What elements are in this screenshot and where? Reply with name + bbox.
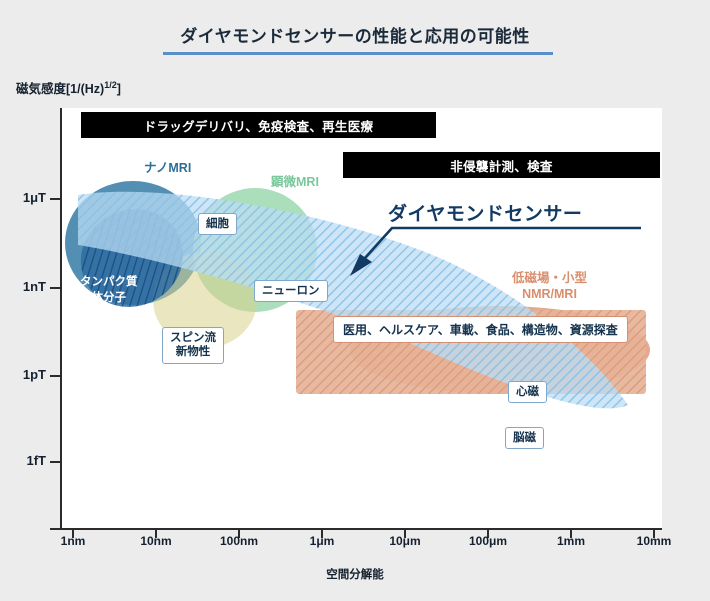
y-axis-label-exponent: 1/2 [104, 80, 117, 90]
banner-drug-delivery: ドラッグデリバリ、免疫検査、再生医療 [81, 112, 436, 138]
page-title: ダイヤモンドセンサーの性能と応用の可能性 [0, 22, 710, 47]
y-tick-2 [50, 375, 62, 377]
chip-applications: 医用、ヘルスケア、車載、食品、構造物、資源探査 [333, 316, 628, 343]
y-axis-label-tail: ] [117, 82, 121, 96]
x-tick-label-6: 1mm [557, 534, 585, 548]
chip-spin-current: スピン流 新物性 [162, 327, 224, 364]
y-axis-line [60, 108, 62, 530]
y-tick-1 [50, 287, 62, 289]
label-nano-mri: ナノMRI [144, 160, 191, 176]
y-tick-3 [50, 461, 62, 463]
y-axis-label: 磁気感度[1/(Hz)1/2] [16, 78, 121, 97]
x-tick-label-2: 100nm [220, 534, 258, 548]
diagram-root: ダイヤモンドセンサーの性能と応用の可能性 磁気感度[1/(Hz)1/2] [0, 0, 710, 601]
title-underline [163, 52, 553, 55]
chip-neuron: ニューロン [254, 280, 328, 302]
label-low-field-nmr: 低磁場・小型 NMR/MRI [512, 270, 587, 303]
y-tick-0 [50, 198, 62, 200]
y-tick-label-1: 1nT [0, 279, 46, 294]
y-tick-label-2: 1pT [0, 367, 46, 382]
x-tick-label-7: 10mm [637, 534, 672, 548]
chip-brain-magnetism: 脳磁 [505, 427, 544, 449]
y-axis-label-main: 磁気感度[1/(Hz) [16, 82, 104, 96]
label-micro-mri: 顕微MRI [271, 174, 319, 190]
x-tick-label-1: 10nm [140, 534, 171, 548]
x-tick-label-3: 1μm [310, 534, 335, 548]
banner-noninvasive: 非侵襲計測、検査 [343, 152, 660, 178]
chip-heart-magnetism: 心磁 [508, 381, 547, 403]
label-diamond-sensor: ダイヤモンドセンサー [388, 199, 582, 226]
chip-cell: 細胞 [198, 213, 237, 235]
x-tick-label-4: 10μm [389, 534, 420, 548]
x-axis-label: 空間分解能 [0, 566, 710, 582]
y-tick-label-3: 1fT [0, 453, 46, 468]
label-protein-biomolecule: タンパク質 生体分子 [80, 275, 138, 306]
x-tick-label-0: 1nm [61, 534, 86, 548]
x-tick-label-5: 100μm [469, 534, 507, 548]
y-tick-label-0: 1μT [0, 190, 46, 205]
